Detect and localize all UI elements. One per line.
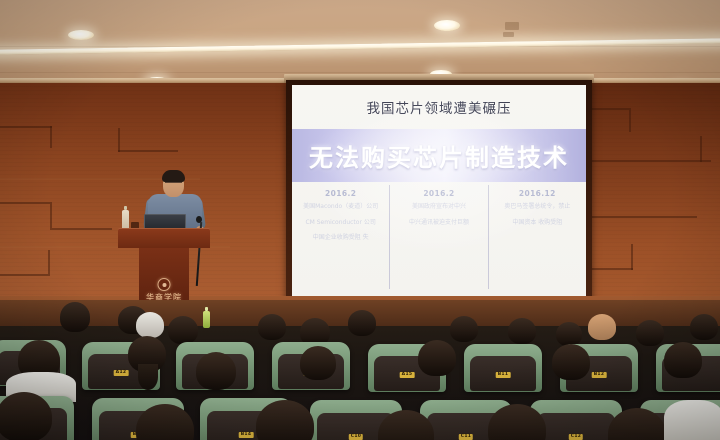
audience-head	[556, 322, 582, 346]
audience-head	[588, 314, 616, 340]
audience-head	[636, 320, 664, 346]
seat-number-badge: C11	[459, 434, 473, 440]
slide-column-date: 2016.2	[297, 189, 384, 198]
audience-head	[664, 342, 702, 378]
slide-column-body: 奥巴马签署总统令，禁止 中国资本 收购受阻	[494, 202, 581, 228]
audience-ponytail	[138, 364, 158, 390]
audience-head	[348, 310, 376, 336]
slide-headline-band: 无法购买芯片制造技术	[292, 129, 586, 182]
audience-area: A12 A13 A14 A15 B11 B12	[0, 300, 720, 440]
ceiling-vent	[503, 32, 514, 37]
podium-top	[118, 228, 210, 248]
slide-column-date: 2016.2	[395, 189, 482, 198]
slide-column-date: 2016.12	[494, 189, 581, 198]
slide-column: 2016.12 奥巴马签署总统令，禁止 中国资本 收购受阻	[488, 185, 586, 289]
audience-head	[508, 318, 536, 344]
audience-head-gray	[136, 312, 164, 338]
slide-column-body: 美国Macondo（麦道）公司 CM Semiconductor 公司 中国企业…	[297, 202, 384, 244]
seat-number-badge: A12	[114, 370, 129, 376]
projection-screen: 我国芯片领域遭美碾压 无法购买芯片制造技术 2016.2 美国Macondo（麦…	[292, 85, 586, 297]
speaker-hair	[162, 170, 185, 182]
seat-number-badge: B12	[592, 372, 607, 378]
ceiling-downlight	[68, 30, 94, 40]
ceiling-vent	[505, 22, 519, 30]
audience-head	[552, 344, 590, 380]
slide-headline: 无法购买芯片制造技术	[292, 129, 586, 182]
wall-panel-right	[588, 78, 720, 333]
audience-head	[256, 400, 314, 440]
seat-number-badge: B11	[496, 372, 511, 378]
slide-column: 2016.2 美国Macondo（麦道）公司 CM Semiconductor …	[292, 185, 389, 289]
slide-columns: 2016.2 美国Macondo（麦道）公司 CM Semiconductor …	[292, 185, 586, 289]
seat-number-badge: C10	[349, 434, 363, 440]
slide-column: 2016.2 美国政府宣布对中兴 中兴通讯被迫支付巨额	[389, 185, 487, 289]
glasses-icon	[165, 182, 182, 187]
slide-title: 我国芯片领域遭美碾压	[292, 97, 586, 117]
podium: 华商学院	[118, 228, 210, 306]
ceiling-downlight	[434, 20, 460, 31]
auditorium-seat: B11	[464, 344, 542, 392]
audience-shoulders	[664, 400, 720, 440]
audience-head	[196, 352, 236, 390]
audience-head	[300, 346, 336, 380]
college-emblem-icon	[158, 278, 171, 291]
slide-column-body: 美国政府宣布对中兴 中兴通讯被迫支付巨额	[395, 202, 482, 228]
green-drink-bottle	[203, 311, 210, 328]
audience-head	[418, 340, 456, 376]
seat-number-badge: A15	[400, 372, 415, 378]
lecture-hall-photo: 我国芯片领域遭美碾压 无法购买芯片制造技术 2016.2 美国Macondo（麦…	[0, 0, 720, 440]
audience-head	[450, 316, 478, 342]
audience-head	[258, 314, 286, 340]
audience-head	[60, 302, 90, 332]
seat-number-badge: C12	[569, 434, 583, 440]
audience-head	[690, 314, 718, 340]
podium-body: 华商学院	[139, 248, 189, 306]
audience-head	[0, 392, 52, 440]
audience-head	[168, 316, 198, 344]
seat-number-badge: B14	[239, 432, 254, 438]
